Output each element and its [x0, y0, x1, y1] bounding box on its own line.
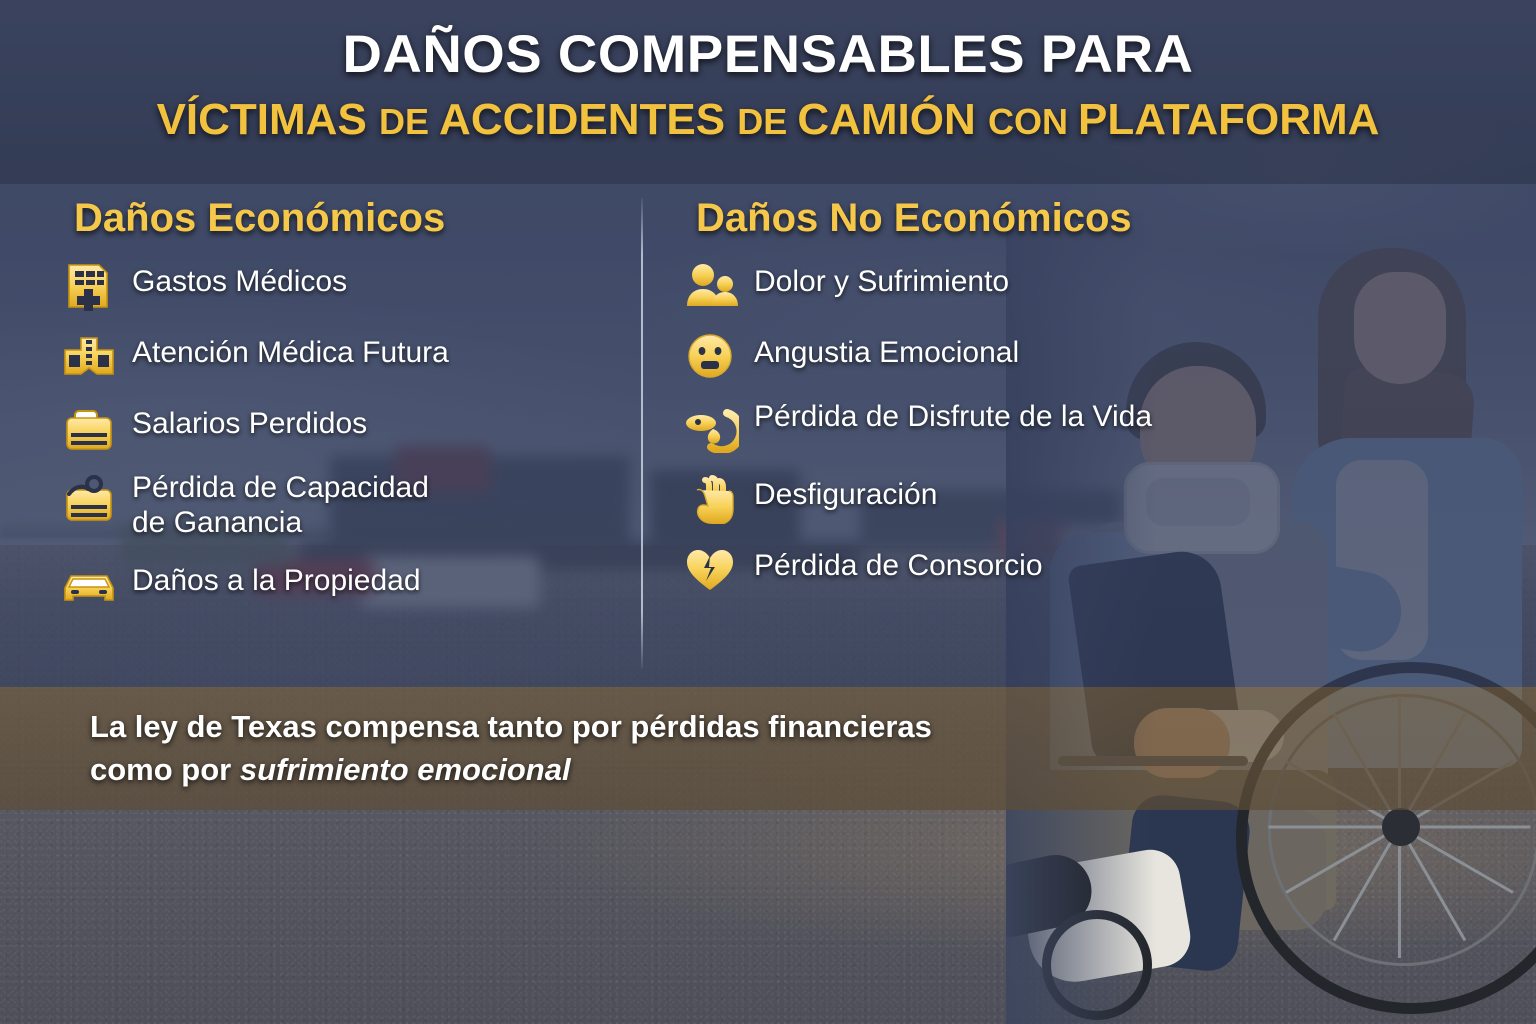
economic-item-label: Salarios Perdidos — [132, 399, 367, 441]
car-icon — [58, 556, 120, 612]
title-word-5: CON — [988, 101, 1078, 142]
non-economic-item-label: Pérdida de Disfrute de la Vida — [754, 399, 1152, 434]
economic-item: Pérdida de Capacidadde Ganancia — [58, 470, 618, 541]
non-economic-item: Desfiguración — [680, 470, 1300, 526]
non-economic-item: Dolor y Sufrimiento — [680, 257, 1300, 313]
economic-damages-column: Daños Económicos Gastos MédicosAtención … — [58, 196, 618, 627]
economic-item: Salarios Perdidos — [58, 399, 618, 455]
broken-heart-icon — [680, 541, 742, 597]
footer-quote: La ley de Texas compensa tanto por pérdi… — [90, 706, 1080, 792]
quote-line-2: como por sufrimiento emocional — [90, 749, 1080, 792]
hospital-building-icon — [58, 328, 120, 384]
title-word-1: DE — [379, 101, 439, 142]
life-enjoyment-icon — [680, 399, 742, 455]
non-economic-item: Pérdida de Disfrute de la Vida — [680, 399, 1300, 455]
economic-item-label: Atención Médica Futura — [132, 328, 449, 370]
hands-icon — [680, 470, 742, 526]
non-economic-damages-column: Daños No Económicos Dolor y SufrimientoA… — [680, 196, 1300, 612]
quote-line-1: La ley de Texas compensa tanto por pérdi… — [90, 709, 932, 744]
columns-container: Daños Económicos Gastos MédicosAtención … — [0, 196, 1536, 666]
economic-item-label: Pérdida de Capacidadde Ganancia — [132, 470, 429, 541]
title-line-1: DAÑOS COMPENSABLES PARA — [0, 24, 1536, 85]
non-economic-item: Pérdida de Consorcio — [680, 541, 1300, 597]
economic-item-label: Gastos Médicos — [132, 257, 347, 299]
non-economic-item-label: Pérdida de Consorcio — [754, 541, 1043, 583]
quote-emphasis: sufrimiento emocional — [240, 752, 571, 787]
title-block: DAÑOS COMPENSABLES PARA VÍCTIMAS DE ACCI… — [0, 24, 1536, 145]
two-people-icon — [680, 257, 742, 313]
title-word-6: PLATAFORMA — [1078, 95, 1379, 144]
economic-column-heading: Daños Económicos — [74, 196, 618, 241]
non-economic-item-label: Dolor y Sufrimiento — [754, 257, 1009, 299]
medical-bill-icon — [58, 257, 120, 313]
distressed-face-icon — [680, 328, 742, 384]
briefcase-worker-icon — [58, 470, 120, 526]
non-economic-column-heading: Daños No Económicos — [696, 196, 1300, 241]
non-economic-item-label: Desfiguración — [754, 470, 937, 512]
title-line-2: VÍCTIMAS DE ACCIDENTES DE CAMIÓN CON PLA… — [0, 95, 1536, 145]
title-word-0: VÍCTIMAS — [157, 95, 379, 144]
economic-item-label: Daños a la Propiedad — [132, 556, 421, 598]
economic-item: Gastos Médicos — [58, 257, 618, 313]
title-word-2: ACCIDENTES — [439, 95, 737, 144]
non-economic-item-label: Angustia Emocional — [754, 328, 1019, 370]
economic-item: Daños a la Propiedad — [58, 556, 618, 612]
briefcase-wages-icon — [58, 399, 120, 455]
quote-line-2-prefix: como por — [90, 752, 240, 787]
economic-item: Atención Médica Futura — [58, 328, 618, 384]
title-word-4: CAMIÓN — [797, 95, 988, 144]
title-word-3: DE — [737, 101, 797, 142]
infographic-canvas: DAÑOS COMPENSABLES PARA VÍCTIMAS DE ACCI… — [0, 0, 1536, 1024]
non-economic-item: Angustia Emocional — [680, 328, 1300, 384]
